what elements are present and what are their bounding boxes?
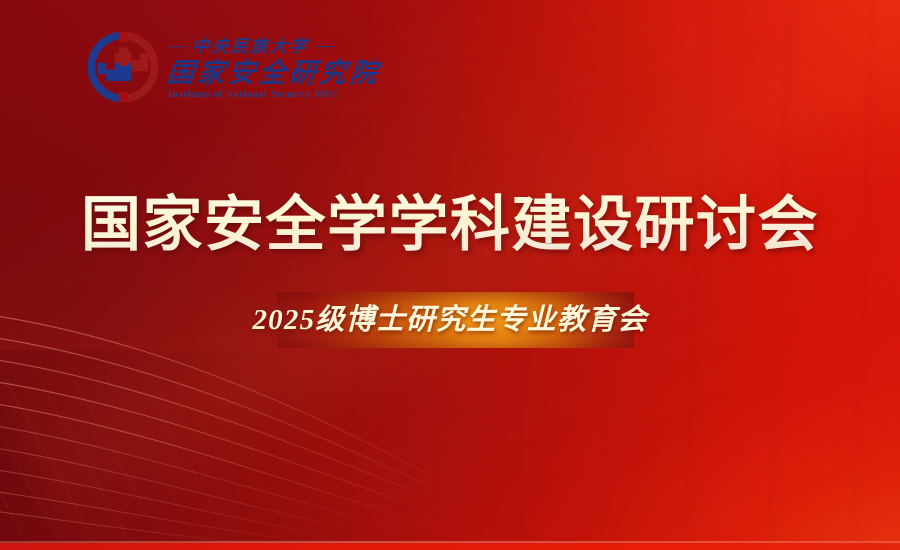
conference-title-slide: 中央民族大学 国家安全研究院 Institute of National Sec… [0,0,900,550]
institute-logo-lockup: 中央民族大学 国家安全研究院 Institute of National Sec… [88,32,381,102]
logo-rule-right [315,46,334,48]
bottom-accent-strip [0,543,900,550]
logo-university-line: 中央民族大学 [167,36,381,58]
logo-text-block: 中央民族大学 国家安全研究院 Institute of National Sec… [167,34,381,101]
main-title: 国家安全学学科建设研讨会 [0,192,900,259]
logo-institute-name: 国家安全研究院 [165,59,382,88]
institute-emblem-icon [88,32,158,102]
logo-institute-name-english: Institute of National Security MUC [168,91,381,101]
subtitle: 2025级博士研究生专业教育会 [0,296,900,344]
logo-rule-left [167,46,186,48]
logo-university-name: 中央民族大学 [191,38,310,55]
decorative-hatch-lines [0,380,410,550]
